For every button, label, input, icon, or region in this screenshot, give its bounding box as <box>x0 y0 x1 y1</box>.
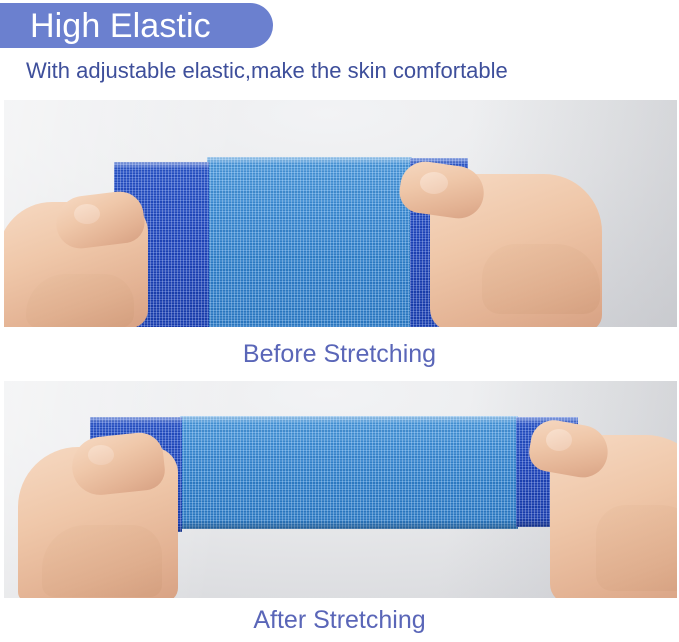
bandage-highlight <box>180 416 518 423</box>
left-thumb <box>69 430 167 497</box>
right-hand <box>386 156 616 327</box>
bandage-knit-texture <box>207 157 412 327</box>
bandage-highlight <box>114 162 209 169</box>
badge-high-elastic: High Elastic <box>0 3 273 48</box>
left-thumbnail-icon <box>74 204 100 224</box>
right-thumbnail-icon <box>546 429 572 451</box>
right-hand <box>524 409 677 598</box>
left-thumbnail-icon <box>88 445 114 465</box>
bandage-shadow <box>180 520 518 529</box>
left-hand <box>4 178 188 327</box>
header: High Elastic With adjustable elastic,mak… <box>0 0 679 100</box>
caption-label: Before Stretching <box>243 340 436 368</box>
bandage-span-before <box>207 157 412 327</box>
bandage-knit-texture <box>180 416 518 529</box>
caption-label: After Stretching <box>253 606 425 634</box>
right-finger-shade <box>596 505 677 591</box>
bandage-span-after <box>180 416 518 529</box>
caption-before-stretching: Before Stretching <box>0 327 679 381</box>
left-hand <box>18 417 228 598</box>
badge-label: High Elastic <box>30 9 211 43</box>
left-knuckle-shade <box>26 274 134 327</box>
right-thumbnail-icon <box>420 172 448 194</box>
left-knuckle-shade <box>42 525 162 597</box>
photo-after-stretching <box>4 381 677 598</box>
bandage-highlight <box>207 157 412 164</box>
photo-before-stretching <box>4 100 677 327</box>
right-finger-shade <box>482 244 600 314</box>
header-subtitle: With adjustable elastic,make the skin co… <box>26 58 508 84</box>
caption-after-stretching: After Stretching <box>0 598 679 642</box>
